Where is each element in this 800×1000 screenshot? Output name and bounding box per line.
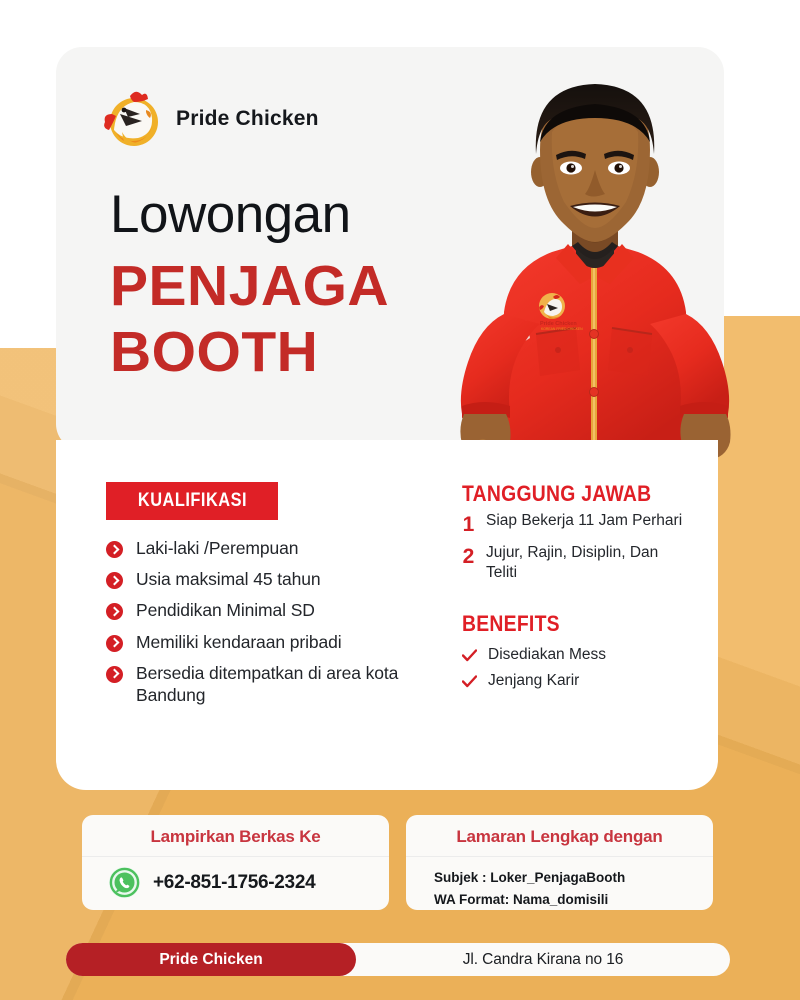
list-item: Laki-laki /Perempuan bbox=[106, 537, 436, 559]
responsibilities-list: 1 Siap Bekerja 11 Jam Perhari 2 Jujur, R… bbox=[462, 511, 687, 589]
benefit-text: Disediakan Mess bbox=[488, 645, 606, 665]
application-format: Subjek : Loker_PenjagaBooth WA Format: N… bbox=[406, 857, 713, 912]
whatsapp-number: +62-851-1756-2324 bbox=[153, 872, 315, 894]
benefits-list: Disediakan Mess Jenjang Karir bbox=[462, 645, 687, 697]
item-number: 2 bbox=[462, 545, 475, 568]
check-icon bbox=[462, 649, 477, 662]
svg-text:KOREAN FRIED CHICKEN: KOREAN FRIED CHICKEN bbox=[541, 327, 583, 331]
responsibility-text: Siap Bekerja 11 Jam Perhari bbox=[486, 511, 682, 531]
whatsapp-row[interactable]: +62-851-1756-2324 bbox=[82, 857, 389, 899]
list-item: 1 Siap Bekerja 11 Jam Perhari bbox=[462, 511, 687, 536]
brand-name: Pride Chicken bbox=[176, 107, 319, 131]
chevron-bullet-icon bbox=[106, 541, 123, 558]
brand-header: Pride Chicken bbox=[100, 88, 319, 150]
qualifications-list: Laki-laki /Perempuan Usia maksimal 45 ta… bbox=[106, 537, 436, 715]
list-item: Disediakan Mess bbox=[462, 645, 687, 665]
footer-address: Jl. Candra Kirana no 16 bbox=[356, 943, 730, 976]
chevron-bullet-icon bbox=[106, 603, 123, 620]
list-item: Jenjang Karir bbox=[462, 671, 687, 691]
list-item: Pendidikan Minimal SD bbox=[106, 599, 436, 621]
qualification-text: Bersedia ditempatkan di area kota Bandun… bbox=[136, 662, 436, 706]
item-number: 1 bbox=[462, 513, 475, 536]
qualification-text: Memiliki kendaraan pribadi bbox=[136, 631, 342, 653]
contact-card-requirements: Lamaran Lengkap dengan Subjek : Loker_Pe… bbox=[406, 815, 713, 910]
list-item: Bersedia ditempatkan di area kota Bandun… bbox=[106, 662, 436, 706]
chevron-bullet-icon bbox=[106, 666, 123, 683]
chevron-bullet-icon bbox=[106, 572, 123, 589]
rooster-logo-icon bbox=[100, 88, 162, 150]
list-item: Memiliki kendaraan pribadi bbox=[106, 631, 436, 653]
wa-format-line: WA Format: Nama_domisili bbox=[434, 889, 713, 911]
page-title: PENJAGA BOOTH bbox=[110, 253, 389, 385]
contact-left-title: Lampirkan Berkas Ke bbox=[82, 815, 389, 847]
whatsapp-icon bbox=[108, 866, 141, 899]
benefit-text: Jenjang Karir bbox=[488, 671, 579, 691]
list-item: Usia maksimal 45 tahun bbox=[106, 568, 436, 590]
check-icon bbox=[462, 675, 477, 688]
contact-card-whatsapp: Lampirkan Berkas Ke +62-851-1756-2324 bbox=[82, 815, 389, 910]
qualifications-badge: KUALIFIKASI bbox=[106, 482, 278, 520]
qualification-text: Laki-laki /Perempuan bbox=[136, 537, 298, 559]
footer-brand-pill: Pride Chicken bbox=[66, 943, 356, 976]
subject-line: Subjek : Loker_PenjagaBooth bbox=[434, 867, 713, 889]
benefits-heading: BENEFITS bbox=[462, 611, 560, 637]
footer-brand-label: Pride Chicken bbox=[159, 951, 262, 969]
hero-pretitle: Lowongan bbox=[110, 188, 351, 241]
qualifications-badge-label: KUALIFIKASI bbox=[137, 490, 246, 512]
staff-photo: Pride Chicken KOREAN FRIED CHICKEN bbox=[440, 62, 750, 462]
qualification-text: Pendidikan Minimal SD bbox=[136, 599, 315, 621]
responsibilities-heading: TANGGUNG JAWAB bbox=[462, 481, 651, 507]
qualification-text: Usia maksimal 45 tahun bbox=[136, 568, 321, 590]
responsibility-text: Jujur, Rajin, Disiplin, Dan Teliti bbox=[486, 543, 687, 582]
contact-right-title: Lamaran Lengkap dengan bbox=[406, 815, 713, 847]
chevron-bullet-icon bbox=[106, 635, 123, 652]
list-item: 2 Jujur, Rajin, Disiplin, Dan Teliti bbox=[462, 543, 687, 582]
